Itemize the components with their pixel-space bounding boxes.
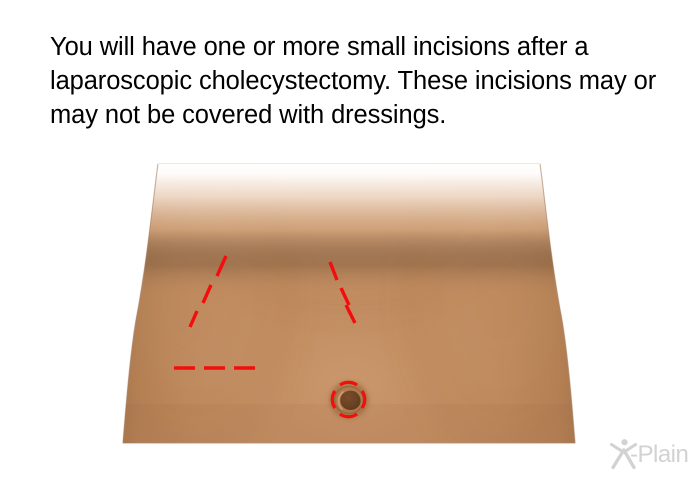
- x-plain-logo: -Plain: [608, 438, 692, 472]
- page-root: You will have one or more small incision…: [0, 0, 700, 480]
- logo-wordmark: -Plain: [630, 442, 688, 468]
- navel-hole: [340, 391, 360, 410]
- torso-body: [86, 84, 612, 480]
- abdomen-illustration: [0, 0, 700, 480]
